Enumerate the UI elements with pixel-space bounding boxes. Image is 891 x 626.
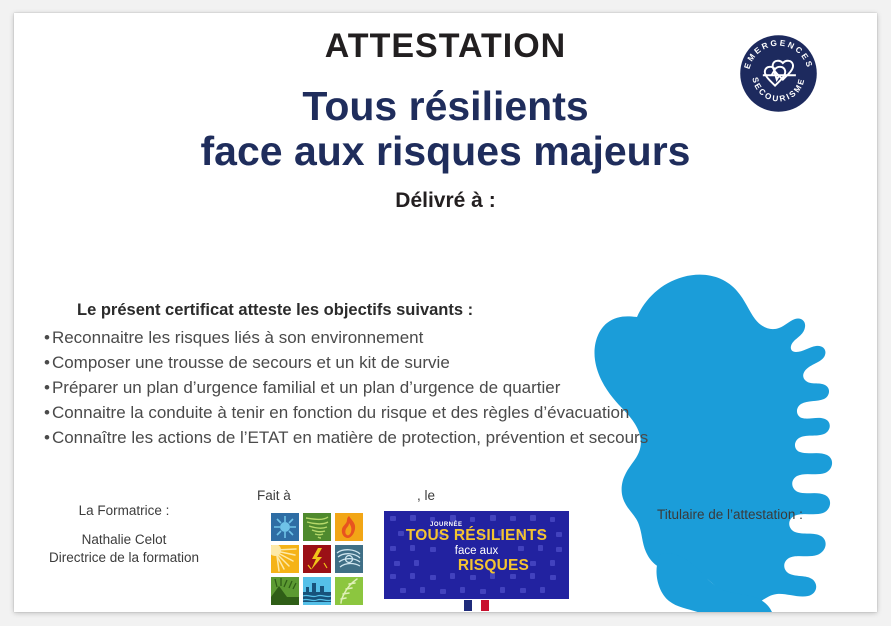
flood-icon [303, 577, 331, 605]
date-label: , le [417, 488, 435, 503]
martinique-map-south-lobe [657, 553, 774, 612]
lightning-icon [303, 545, 331, 573]
objective-text: Préparer un plan d’urgence familial et u… [52, 378, 560, 397]
cyclone-icon [335, 545, 363, 573]
sun-heat-icon [271, 545, 299, 573]
bullet-icon: • [44, 328, 52, 347]
objective-text: Reconnaitre les risques liés à son envir… [52, 328, 423, 347]
objective-item: •Connaître les actions de l’ETAT en mati… [44, 426, 764, 451]
objective-item: •Composer une trousse de secours et un k… [44, 351, 764, 376]
french-flag-bar [384, 599, 569, 612]
tornado-icon [303, 513, 331, 541]
landslide-icon [271, 577, 299, 605]
bullet-icon: • [44, 353, 52, 372]
objective-text: Composer une trousse de secours et un ki… [52, 353, 450, 372]
trainer-role: Directrice de la formation [29, 550, 219, 565]
journee-line-2: face aux [384, 545, 569, 557]
objective-item: •Connaitre la conduite à tenir en foncti… [44, 401, 764, 426]
objectives-block: Le présent certificat atteste les object… [44, 301, 764, 451]
journee-line-3: RISQUES [418, 558, 569, 575]
certificate-page: ATTESTATION Tous résilients face aux ris… [14, 13, 877, 612]
bullet-icon: • [44, 428, 52, 447]
objective-text: Connaitre la conduite à tenir en fonctio… [52, 403, 629, 422]
emergences-secourisme-logo: EMERGENCES SECOURISME [735, 30, 822, 117]
trainer-signature-block: La Formatrice : Nathalie Celot Directric… [29, 503, 219, 565]
journee-tous-resilients-face-aux-risques-logo: JOURNÉE TOUS RÉSILIENTS face aux RISQUES [384, 511, 569, 612]
objectives-heading: Le présent certificat atteste les object… [77, 301, 764, 320]
journee-line-1: TOUS RÉSILIENTS [384, 528, 569, 545]
place-label: Fait à [257, 488, 291, 503]
trainer-name: Nathalie Celot [29, 532, 219, 547]
french-flag-icon [464, 600, 490, 611]
bullet-icon: • [44, 403, 52, 422]
prevention-des-risques-majeurs-logo [271, 513, 363, 612]
objective-item: •Reconnaitre les risques liés à son envi… [44, 326, 764, 351]
avalanche-icon [335, 577, 363, 605]
virus-icon [271, 513, 299, 541]
trainer-label: La Formatrice : [29, 503, 219, 518]
holder-label: Titulaire de l’attestation : [657, 507, 803, 522]
fire-icon [335, 513, 363, 541]
objective-item: •Préparer un plan d’urgence familial et … [44, 376, 764, 401]
bullet-icon: • [44, 378, 52, 397]
subtitle-line-2: face aux risques majeurs [14, 130, 877, 173]
delivered-to-label: Délivré à : [14, 189, 877, 213]
objective-text: Connaître les actions de l’ETAT en matiè… [52, 428, 648, 447]
